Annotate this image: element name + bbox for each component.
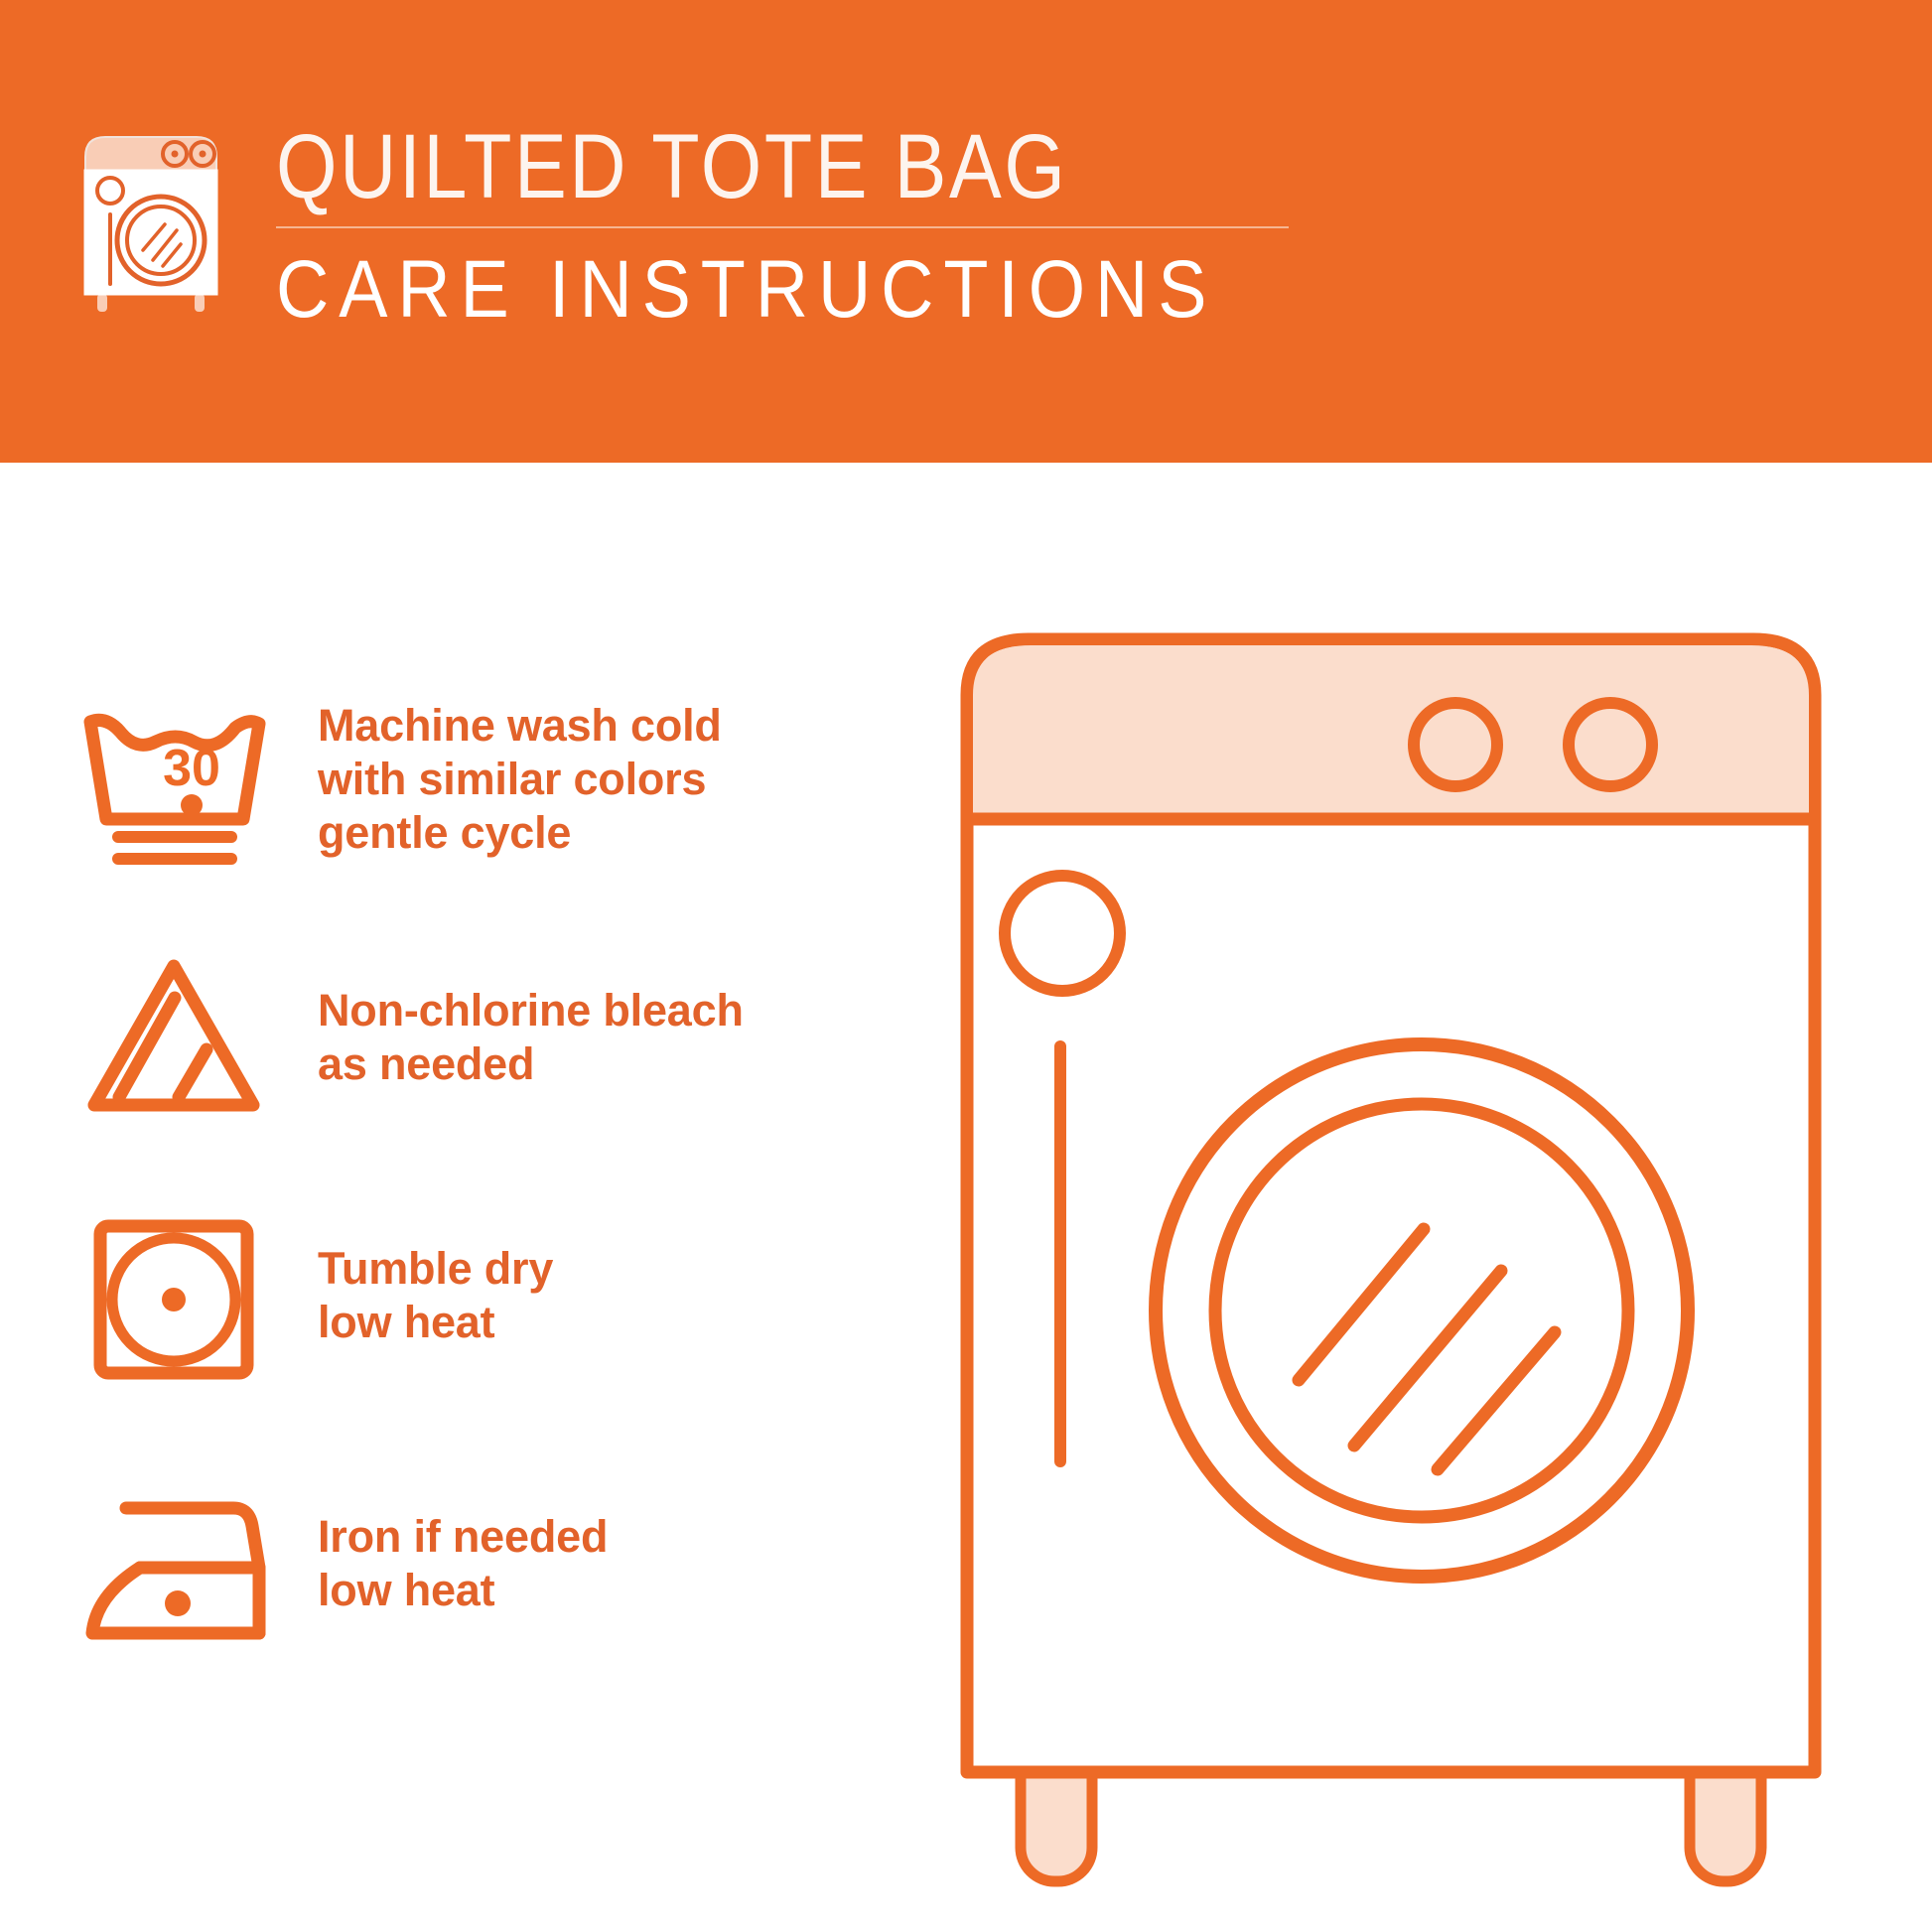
page-subtitle: CARE INSTRUCTIONS <box>276 244 1223 336</box>
header-text-block: QUILTED TOTE BAG CARE INSTRUCTIONS <box>276 119 1328 336</box>
care-item-label: Tumble dry low heat <box>318 1242 553 1349</box>
care-item-label: Non-chlorine bleach as needed <box>318 984 744 1091</box>
care-item-tumble-dry: Tumble dry low heat <box>69 1191 553 1400</box>
iron-low-heat-icon <box>69 1459 278 1668</box>
care-item-bleach: Non-chlorine bleach as needed <box>69 933 744 1142</box>
washing-machine-icon <box>77 127 236 316</box>
wash-tub-30-gentle-icon: 30 <box>69 675 278 884</box>
care-item-label: Iron if needed low heat <box>318 1510 608 1617</box>
non-chlorine-bleach-triangle-icon <box>69 933 278 1142</box>
care-item-machine-wash: 30 Machine wash cold with similar colors… <box>69 675 722 884</box>
tumble-dry-low-icon <box>69 1191 278 1400</box>
care-item-iron: Iron if needed low heat <box>69 1459 608 1668</box>
page-title: QUILTED TOTE BAG <box>276 119 1181 214</box>
header-banner: QUILTED TOTE BAG CARE INSTRUCTIONS <box>0 0 1932 463</box>
title-divider <box>276 226 1289 228</box>
svg-text:30: 30 <box>163 740 220 797</box>
care-item-label: Machine wash cold with similar colors ge… <box>318 699 722 860</box>
washing-machine-illustration <box>953 625 1866 1896</box>
